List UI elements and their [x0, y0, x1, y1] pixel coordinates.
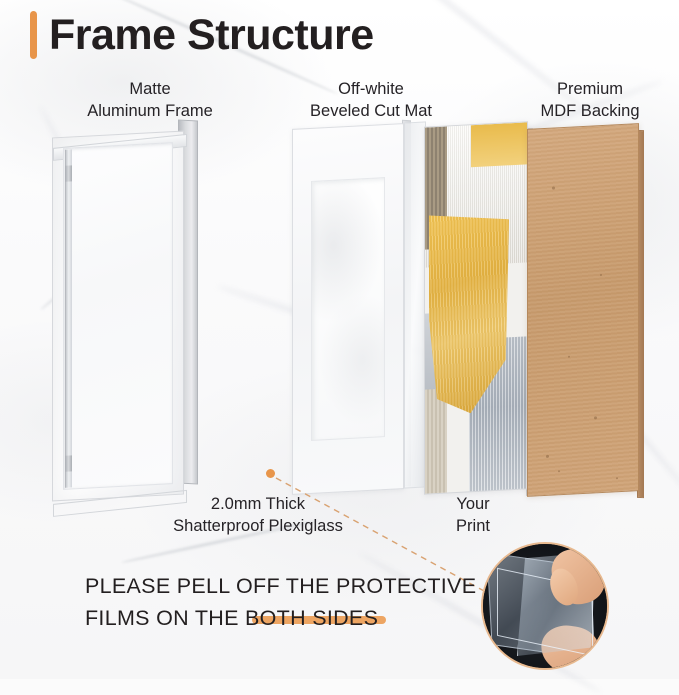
callout-line-1: PLEASE PELL OFF THE PROTECTIVE	[85, 570, 465, 602]
page-title: Frame Structure	[49, 8, 374, 62]
frame-hinge-clip-top	[65, 165, 72, 181]
mdf-speck	[568, 356, 570, 358]
exploded-layer-diagram	[0, 110, 679, 500]
callout-line-2: FILMS ON THE BOTH SIDES	[85, 602, 465, 634]
frame-face	[52, 131, 184, 502]
mdf-speck	[594, 416, 597, 419]
plexiglass-face	[404, 121, 426, 488]
mdf-speck	[552, 186, 555, 189]
label-plexiglass: 2.0mm Thick Shatterproof Plexiglass	[173, 493, 343, 537]
mat-board-layer	[292, 118, 418, 500]
peeling-protective-film-photo	[481, 542, 609, 670]
frame-hinge-strip	[65, 149, 72, 487]
mdf-speck	[546, 455, 549, 458]
mdf-speck	[558, 470, 560, 472]
mdf-face	[527, 123, 639, 497]
label-line-1: Your	[456, 493, 490, 515]
print-gold-top-strip	[471, 122, 528, 167]
leader-dot-icon	[266, 469, 275, 478]
aluminum-frame-layer	[52, 120, 207, 500]
label-your-print: Your Print	[456, 493, 490, 537]
label-line-1: Matte	[87, 78, 213, 100]
label-line-2: Shatterproof Plexiglass	[173, 515, 343, 537]
mat-cut-window	[311, 177, 385, 441]
mdf-backing-layer	[527, 126, 652, 504]
label-line-2: Print	[456, 515, 490, 537]
header: Frame Structure	[0, 0, 679, 72]
mdf-speck	[600, 274, 602, 276]
mat-face	[292, 123, 404, 495]
label-line-1: Off-white	[310, 78, 432, 100]
frame-hinge-clip-bottom	[65, 455, 72, 471]
label-line-1: Premium	[540, 78, 639, 100]
art-print-layer	[424, 124, 542, 500]
label-line-1: 2.0mm Thick	[173, 493, 343, 515]
mdf-speck	[616, 477, 618, 479]
print-face	[424, 121, 528, 494]
frame-inner-opening	[63, 142, 173, 490]
title-accent-bar	[30, 11, 37, 59]
callout-text: PLEASE PELL OFF THE PROTECTIVE FILMS ON …	[85, 570, 465, 634]
print-beige-strip	[425, 389, 447, 495]
